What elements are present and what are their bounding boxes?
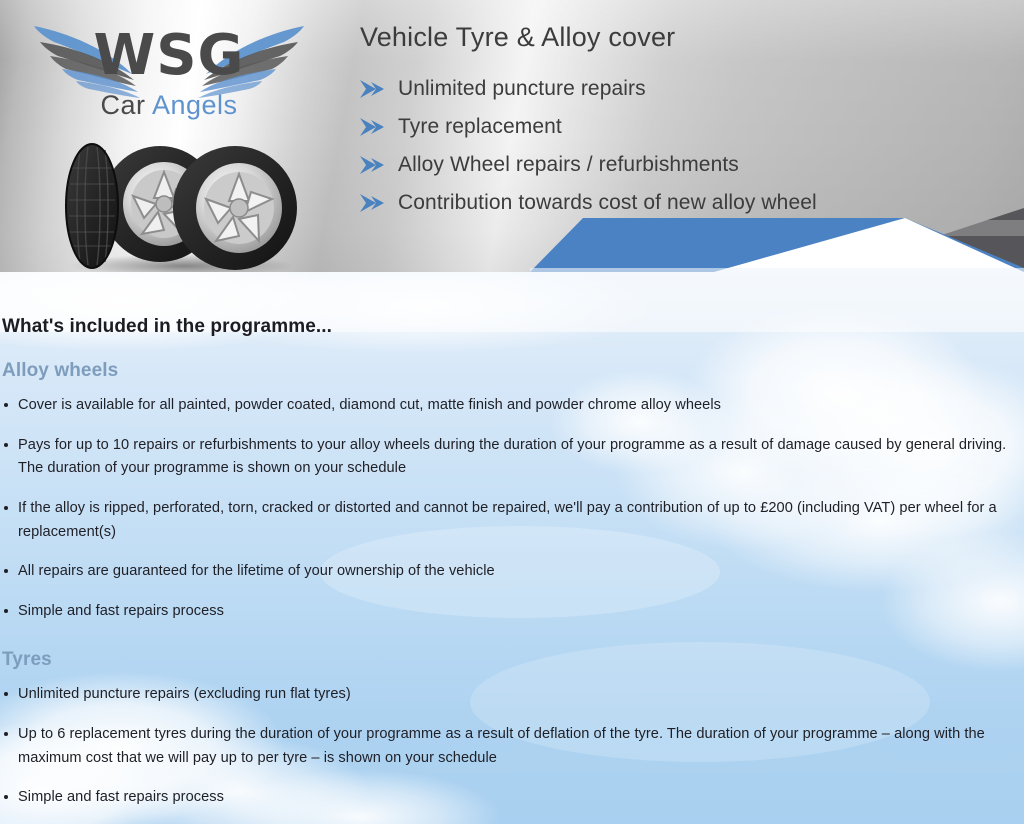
logo-subtitle: Car Angels xyxy=(24,92,314,119)
list-item: Simple and fast repairs process xyxy=(2,786,1014,810)
list-item: Up to 6 replacement tyres during the dur… xyxy=(2,723,1014,770)
tyre-right xyxy=(173,146,297,270)
banner-feature-label: Alloy Wheel repairs / refurbishments xyxy=(398,153,739,177)
list-item: Unlimited puncture repairs (excluding ru… xyxy=(2,683,1014,707)
banner-feature-item: Tyre replacement xyxy=(358,108,817,146)
ribbon-blue-wedge xyxy=(530,218,1024,272)
bullet-list-alloy-wheels: Cover is available for all painted, powd… xyxy=(2,394,1014,623)
ribbon-dark-wedge xyxy=(830,208,1024,272)
banner-feature-item: Alloy Wheel repairs / refurbishments xyxy=(358,146,817,184)
tyre-left-tread xyxy=(66,144,118,268)
tyres-and-alloy-wheels-image xyxy=(52,128,304,272)
banner-headline: Vehicle Tyre & Alloy cover xyxy=(360,22,675,53)
page-title: What's included in the programme... xyxy=(2,316,1014,338)
page-root: WSG Car Angels xyxy=(0,0,1024,824)
header-banner: WSG Car Angels xyxy=(0,0,1024,272)
list-item: Pays for up to 10 repairs or refurbishme… xyxy=(2,434,1014,481)
bullet-list-tyres: Unlimited puncture repairs (excluding ru… xyxy=(2,683,1014,810)
group-title-tyres: Tyres xyxy=(2,649,1014,671)
main-content-area: What's included in the programme... Allo… xyxy=(0,272,1024,824)
arrow-bullet-icon xyxy=(358,78,388,100)
banner-feature-item: Unlimited puncture repairs xyxy=(358,70,817,108)
list-item: Cover is available for all painted, powd… xyxy=(2,394,1014,418)
logo-subtitle-car: Car xyxy=(100,90,145,120)
programme-content: What's included in the programme... Allo… xyxy=(0,272,1024,824)
wsg-logo: WSG Car Angels xyxy=(24,8,314,136)
banner-feature-label: Contribution towards cost of new alloy w… xyxy=(398,191,817,215)
logo-subtitle-angels: Angels xyxy=(152,90,238,120)
list-item: If the alloy is ripped, perforated, torn… xyxy=(2,497,1014,544)
arrow-bullet-icon xyxy=(358,154,388,176)
group-title-alloy-wheels: Alloy wheels xyxy=(2,360,1014,382)
logo-wordmark: WSG xyxy=(24,28,314,84)
list-item: All repairs are guaranteed for the lifet… xyxy=(2,560,1014,584)
list-item: Simple and fast repairs process xyxy=(2,600,1014,624)
arrow-bullet-icon xyxy=(358,116,388,138)
banner-feature-list: Unlimited puncture repairs Tyre replacem… xyxy=(358,70,817,222)
banner-feature-label: Unlimited puncture repairs xyxy=(398,77,646,101)
banner-feature-item: Contribution towards cost of new alloy w… xyxy=(358,184,817,222)
ribbon-white-wedge xyxy=(714,218,1024,272)
banner-feature-label: Tyre replacement xyxy=(398,115,562,139)
arrow-bullet-icon xyxy=(358,192,388,214)
